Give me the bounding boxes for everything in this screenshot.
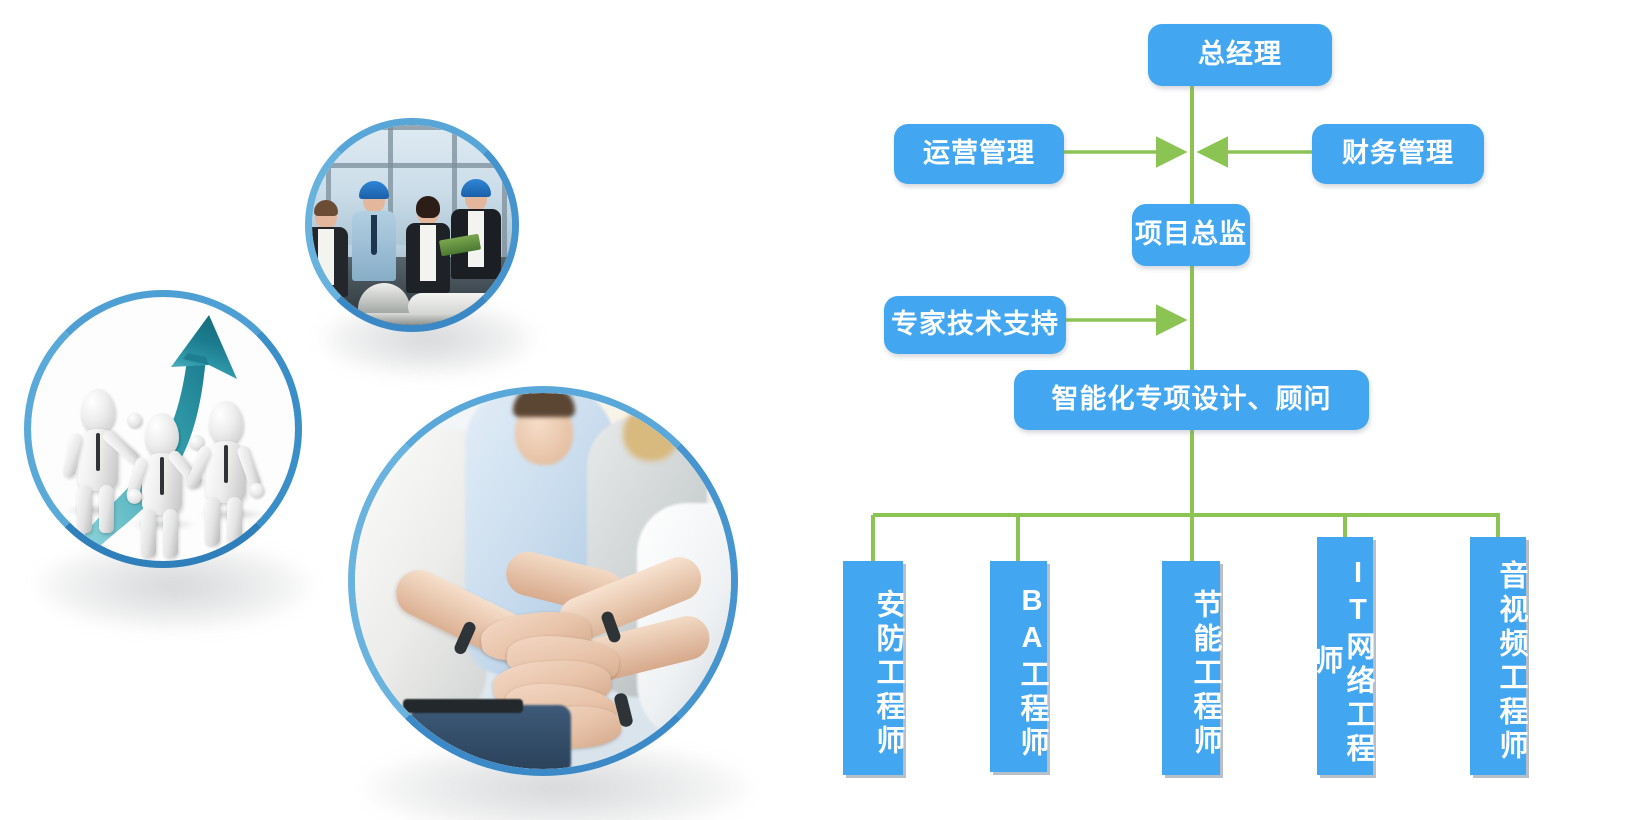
node-audio-video-engineer[interactable]: 音视频工程师 [1470, 537, 1526, 775]
node-label: IT网络工程师 [1309, 549, 1373, 775]
node-label: BA工程师 [1015, 585, 1047, 761]
node-expert-technical-support[interactable]: 专家技术支持 [884, 296, 1066, 354]
node-label: 专家技术支持 [891, 310, 1059, 340]
node-label: 运营管理 [923, 139, 1035, 169]
node-label: 财务管理 [1342, 139, 1454, 169]
node-general-manager[interactable]: 总经理 [1148, 24, 1332, 86]
slide-canvas: 总经理 运营管理 财务管理 项目总监 专家技术支持 智能化专项设计、顾问 安防工… [0, 0, 1626, 820]
node-project-director[interactable]: 项目总监 [1132, 204, 1250, 266]
node-label: 节能工程师 [1188, 589, 1220, 759]
node-security-engineer[interactable]: 安防工程师 [843, 561, 903, 775]
node-label: 安防工程师 [871, 589, 903, 759]
node-finance-management[interactable]: 财务管理 [1312, 124, 1484, 184]
org-chart-connectors [0, 0, 1626, 820]
node-operations-management[interactable]: 运营管理 [894, 124, 1064, 184]
org-chart: 总经理 运营管理 财务管理 项目总监 专家技术支持 智能化专项设计、顾问 安防工… [0, 0, 1626, 820]
node-it-network-engineer[interactable]: IT网络工程师 [1317, 537, 1373, 775]
node-intelligent-design-consulting[interactable]: 智能化专项设计、顾问 [1014, 370, 1369, 430]
node-label: 智能化专项设计、顾问 [1052, 385, 1332, 415]
node-energy-saving-engineer[interactable]: 节能工程师 [1162, 561, 1220, 775]
node-ba-engineer[interactable]: BA工程师 [990, 561, 1047, 772]
node-label: 项目总监 [1135, 220, 1247, 250]
node-label: 音视频工程师 [1494, 560, 1526, 764]
node-label: 总经理 [1198, 40, 1282, 70]
